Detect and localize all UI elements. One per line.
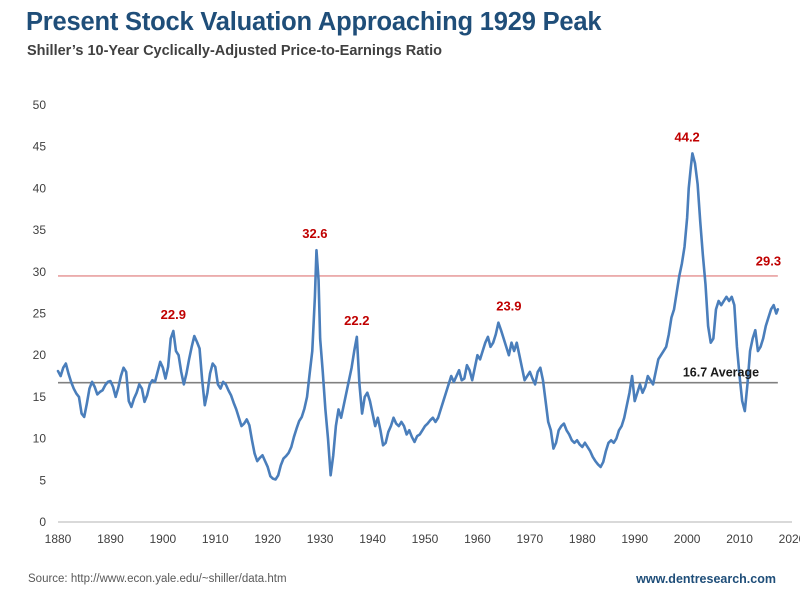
- y-axis-tick-45: 45: [33, 140, 47, 154]
- x-axis-tick-2020: 2020: [779, 532, 800, 546]
- y-axis-tick-5: 5: [39, 473, 46, 487]
- y-axis-tick-15: 15: [33, 390, 47, 404]
- y-axis-tick-20: 20: [33, 348, 47, 362]
- annotation-44.2: 44.2: [674, 129, 699, 144]
- x-axis-tick-1940: 1940: [359, 532, 386, 546]
- y-axis-tick-30: 30: [33, 265, 47, 279]
- x-axis-tick-1990: 1990: [621, 532, 648, 546]
- y-axis-tick-10: 10: [33, 432, 47, 446]
- y-axis-tick-25: 25: [33, 307, 47, 321]
- source-note: Source: http://www.econ.yale.edu/~shille…: [28, 573, 287, 585]
- x-axis-tick-1930: 1930: [307, 532, 334, 546]
- x-axis-tick-1960: 1960: [464, 532, 491, 546]
- x-axis-tick-1920: 1920: [254, 532, 281, 546]
- y-axis-tick-35: 35: [33, 223, 47, 237]
- cape-ratio-line-chart: 05101520253035404550 1880189019001910192…: [0, 0, 800, 600]
- reference-line-labels: 16.7 Average: [683, 366, 759, 380]
- x-axis-tick-2000: 2000: [674, 532, 701, 546]
- annotation-29.3: 29.3: [756, 254, 781, 269]
- x-axis-tick-1950: 1950: [412, 532, 439, 546]
- annotation-22.2: 22.2: [344, 313, 369, 328]
- brand-link[interactable]: www.dentresearch.com: [636, 572, 776, 586]
- x-axis-tick-2010: 2010: [726, 532, 753, 546]
- x-axis-tick-labels: 1880189019001910192019301940195019601970…: [45, 532, 800, 546]
- x-axis-tick-1980: 1980: [569, 532, 596, 546]
- chart-area: 05101520253035404550 1880189019001910192…: [0, 0, 800, 600]
- x-axis-tick-1900: 1900: [150, 532, 177, 546]
- x-axis-tick-1880: 1880: [45, 532, 72, 546]
- average-line-label: 16.7 Average: [683, 366, 759, 380]
- y-axis-tick-0: 0: [39, 515, 46, 529]
- x-axis-tick-1890: 1890: [97, 532, 124, 546]
- y-axis-tick-40: 40: [33, 181, 47, 195]
- y-axis-tick-50: 50: [33, 98, 47, 112]
- annotation-32.6: 32.6: [302, 226, 327, 241]
- annotation-22.9: 22.9: [161, 307, 186, 322]
- chart-page: Present Stock Valuation Approaching 1929…: [0, 0, 800, 600]
- x-axis-tick-1910: 1910: [202, 532, 229, 546]
- y-axis-tick-labels: 05101520253035404550: [33, 98, 47, 529]
- data-annotations: 22.932.622.223.944.229.3: [161, 129, 781, 327]
- x-axis-tick-1970: 1970: [517, 532, 544, 546]
- annotation-23.9: 23.9: [496, 299, 521, 314]
